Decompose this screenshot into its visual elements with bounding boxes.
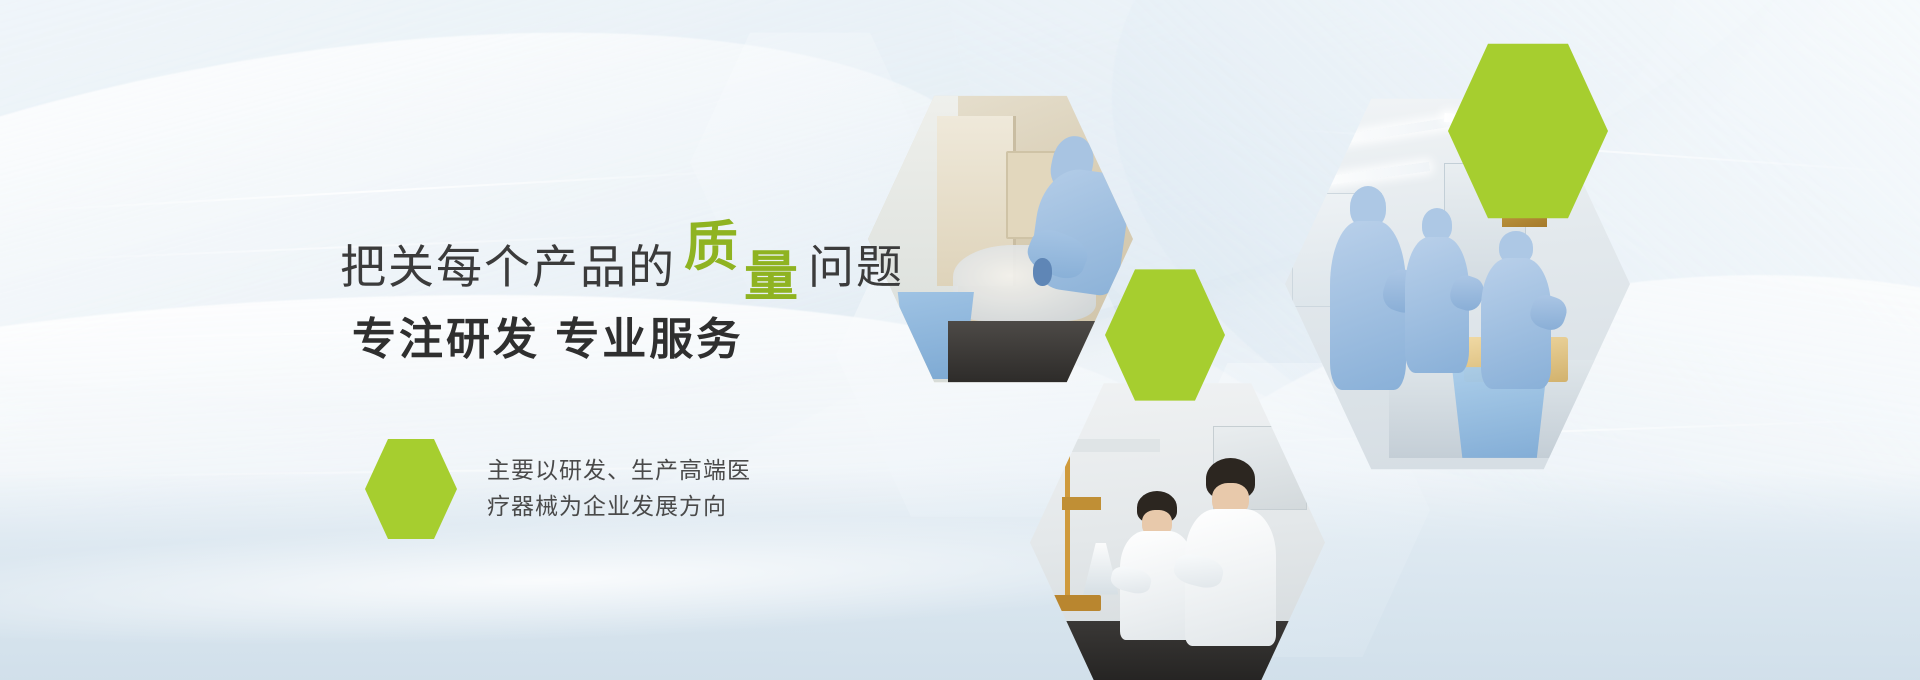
headline-secondary: 专注研发 专业服务 — [352, 318, 743, 362]
headline-accent-quality-second: 量 — [744, 250, 800, 304]
retort-stand — [1065, 445, 1070, 601]
worker-figure-2 — [1402, 208, 1471, 397]
lab-technician-2 — [1183, 458, 1277, 647]
subtext-lines: 主要以研发、生产高端医 疗器械为企业发展方向 — [487, 453, 751, 524]
subtext-line-1: 主要以研发、生产高端医 — [487, 453, 751, 489]
worker-figure-3 — [1478, 231, 1554, 412]
hero-banner: 把关每个产品的质量问题 专注研发 专业服务 主要以研发、生产高端医 疗器械为企业… — [0, 0, 1920, 680]
accent-hexagon-subtext — [365, 438, 457, 540]
headline-tail-text: 问题 — [808, 241, 904, 293]
headline-accent-quality-first: 质 — [684, 220, 740, 274]
subtext-line-2: 疗器械为企业发展方向 — [487, 489, 751, 525]
headline-copy-block: 把关每个产品的质量问题 专注研发 专业服务 主要以研发、生产高端医 疗器械为企业… — [0, 0, 900, 680]
headline-primary: 把关每个产品的质量问题 — [340, 238, 904, 292]
subtext-block: 主要以研发、生产高端医 疗器械为企业发展方向 — [365, 438, 751, 540]
worker-figure-1 — [1326, 186, 1409, 420]
stand-clamp — [1062, 497, 1100, 510]
headline-lead-text: 把关每个产品的 — [340, 241, 676, 293]
worker-glove — [1033, 258, 1053, 285]
